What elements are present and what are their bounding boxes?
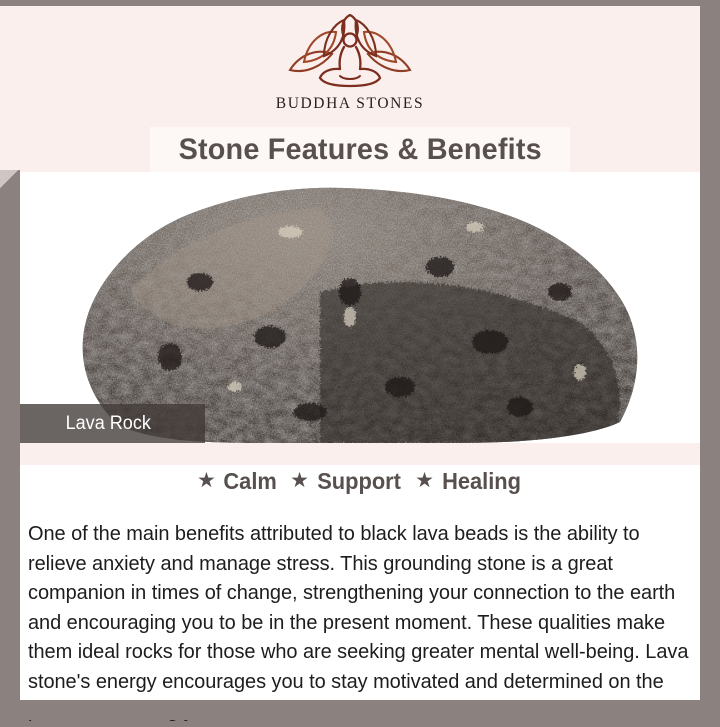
description-text: One of the main benefits attributed to b… [28, 520, 690, 727]
brand-logo: BUDDHA STONES [0, 14, 700, 113]
star-icon: ★ [197, 470, 216, 491]
title-banner: Stone Features & Benefits [150, 127, 570, 173]
star-icon: ★ [290, 470, 309, 491]
stone-features-poster: BUDDHA STONES Stone Features & Benefits [0, 0, 720, 720]
frame-top-edge [0, 0, 720, 6]
frame-left-edge [0, 170, 20, 720]
brand-name: BUDDHA STONES [0, 95, 700, 113]
benefit-item-support: ★ Support [290, 468, 403, 495]
benefit-label: Support [317, 468, 401, 495]
lava-rock-photo [20, 172, 700, 443]
star-icon: ★ [415, 470, 434, 491]
benefit-item-calm: ★ Calm [197, 468, 278, 495]
benefit-item-healing: ★ Healing [415, 468, 523, 495]
frame-bottom-edge [0, 700, 720, 720]
page-title: Stone Features & Benefits [178, 133, 541, 167]
benefits-row: ★ Calm ★ Support ★ Healing [20, 468, 700, 495]
divider-strip [20, 443, 700, 465]
photo-caption: Lava Rock [20, 413, 151, 435]
photo-caption-bar: Lava Rock [20, 404, 205, 443]
frame-right-edge [700, 0, 720, 720]
lotus-meditation-logo-icon [0, 14, 700, 94]
benefit-label: Calm [223, 468, 276, 495]
frame-left-bevel [0, 170, 20, 190]
benefit-label: Healing [442, 468, 521, 495]
